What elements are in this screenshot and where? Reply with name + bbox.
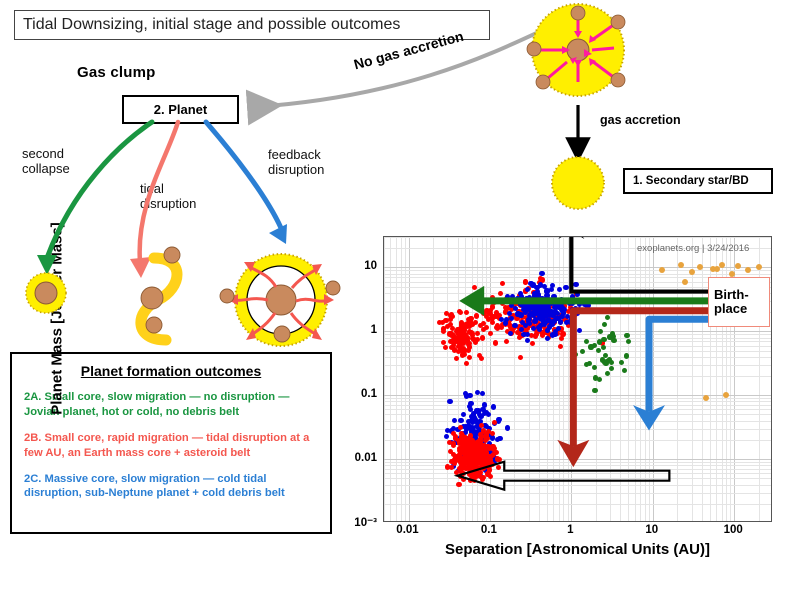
x-axis-title: Separation [Astronomical Units (AU)] [383, 541, 772, 558]
branch-arrowhead-blue [269, 224, 287, 244]
figure-title-box: Tidal Downsizing, initial stage and poss… [14, 10, 490, 40]
y-tick-label: 0.01 [355, 452, 377, 464]
outcome-feedback-arrowheads [228, 262, 334, 340]
branch-label-second-collapse: second collapse [22, 147, 70, 176]
gas-clump-circle [532, 4, 624, 96]
outcome-tidal-debris [141, 247, 180, 333]
x-tick-label: 100 [724, 524, 743, 536]
y-tick-label: 10⁻³ [354, 515, 377, 529]
x-tick-label: 0.01 [396, 524, 418, 536]
gas-accretion-label: gas accretion [600, 113, 681, 127]
birthplace-label-line2: place [714, 302, 747, 316]
secondary-star-circle [552, 157, 604, 209]
outcome-feedback-inner-gap [247, 266, 315, 334]
y-tick-label: 10 [364, 260, 377, 272]
legend-item-2c: 2C. Massive core, slow migration — cold … [24, 472, 318, 502]
clump-satellite-blobs [527, 6, 625, 89]
black-outline-core-arrow [458, 462, 670, 490]
plot-watermark: exoplanets.org | 3/24/2016 [637, 243, 749, 254]
blue-disruption-arrow [649, 319, 722, 412]
x-axis-ticks: 0.010.1110100 [383, 524, 772, 540]
y-axis-title: Planet Mass [Jupiter Mass] [49, 199, 66, 439]
legend-title: Planet formation outcomes [24, 363, 318, 379]
outcome-feedback-outer [235, 254, 327, 346]
outcome-tidal-ribbon [141, 258, 177, 340]
green-migration-arrowhead [459, 286, 484, 316]
secondary-star-label: 1. Secondary star/BD [633, 175, 749, 187]
y-tick-label: 0.1 [361, 388, 377, 400]
branch-label-feedback-disruption: feedback disruption [268, 148, 324, 177]
outcome-feedback-outflow-arrows [232, 266, 330, 336]
x-tick-label: 1 [567, 524, 573, 536]
clump-core [567, 39, 589, 61]
secondary-star-box: 1. Secondary star/BD [623, 168, 773, 194]
page-title: Tidal Downsizing, initial stage and poss… [23, 16, 400, 34]
birthplace-annotation-box: Birth- place [708, 277, 770, 327]
y-tick-label: 1 [371, 324, 377, 336]
outcome-feedback-core [266, 285, 296, 315]
clump-inflow-arrowheads [562, 31, 596, 67]
legend-item-2a: 2A. Small core, slow migration — no disr… [24, 390, 318, 420]
x-tick-label: 10 [645, 524, 658, 536]
legend-item-2b: 2B. Small core, rapid migration — tidal … [24, 431, 318, 461]
clump-inflow-arrows [540, 20, 614, 82]
branch-arrowhead-red [130, 257, 151, 278]
outcome-feedback-debris [220, 281, 340, 342]
gas-clump-label: Gas clump [77, 64, 156, 81]
planet-box-label: 2. Planet [154, 102, 207, 117]
x-tick-label: 0.1 [481, 524, 497, 536]
y-axis-ticks: 1010.10.0110⁻³ [340, 236, 380, 522]
birthplace-label-line1: Birth- [714, 288, 749, 302]
branch-label-tidal-disruption: tidal disruption [140, 182, 196, 211]
planet-box: 2. Planet [122, 95, 239, 124]
